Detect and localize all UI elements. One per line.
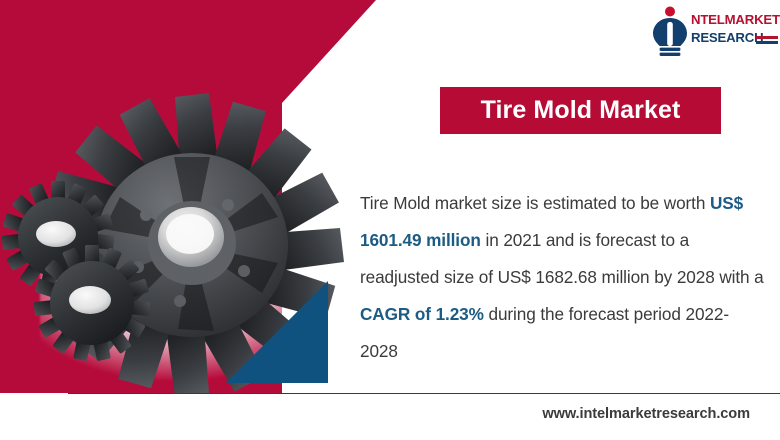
summary-part-1: Tire Mold market size is estimated to be… xyxy=(360,193,710,213)
artwork-panel xyxy=(0,0,380,393)
footer-website-url[interactable]: www.intelmarketresearch.com xyxy=(542,406,750,422)
infographic-banner: NTELMARKET RESEARCH Tire Mold Market Tir… xyxy=(0,0,780,440)
logo-bar-blue xyxy=(756,41,778,44)
market-summary-text: Tire Mold market size is estimated to be… xyxy=(360,185,765,370)
summary-highlight-cagr: CAGR of 1.23% xyxy=(360,304,484,324)
footer-divider xyxy=(68,393,780,394)
logo-accent-bars xyxy=(756,36,778,44)
brand-logo[interactable]: NTELMARKET RESEARCH xyxy=(651,6,777,60)
logo-bar-red xyxy=(756,36,778,39)
page-title: Tire Mold Market xyxy=(481,96,681,125)
title-banner: Tire Mold Market xyxy=(440,87,721,134)
lightbulb-icon xyxy=(651,6,689,58)
logo-line-intelmarket: NTELMARKET xyxy=(691,12,777,27)
